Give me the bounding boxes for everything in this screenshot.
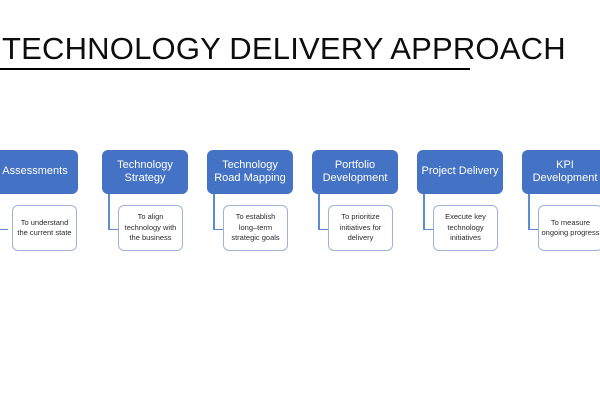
stage-box-label: KPI Development <box>525 159 600 186</box>
process-flow-diagram: Assessments To understand the current st… <box>0 0 600 400</box>
connector-vertical-segment <box>108 194 110 230</box>
slide-canvas: TECHNOLOGY DELIVERY APPROACH Assessments… <box>0 0 600 400</box>
flow-stage: KPI Development To measure ongoing progr… <box>427 0 600 400</box>
connector-vertical-segment <box>318 194 320 230</box>
connector-vertical-segment <box>213 194 215 230</box>
connector-horizontal-segment <box>528 229 538 231</box>
stage-note[interactable]: To measure ongoing progress <box>538 205 600 251</box>
stage-note-label: To measure ongoing progress <box>541 218 600 239</box>
connector-vertical-segment <box>423 194 425 230</box>
stage-box[interactable]: KPI Development <box>522 150 600 194</box>
connector-vertical-segment <box>528 194 530 230</box>
